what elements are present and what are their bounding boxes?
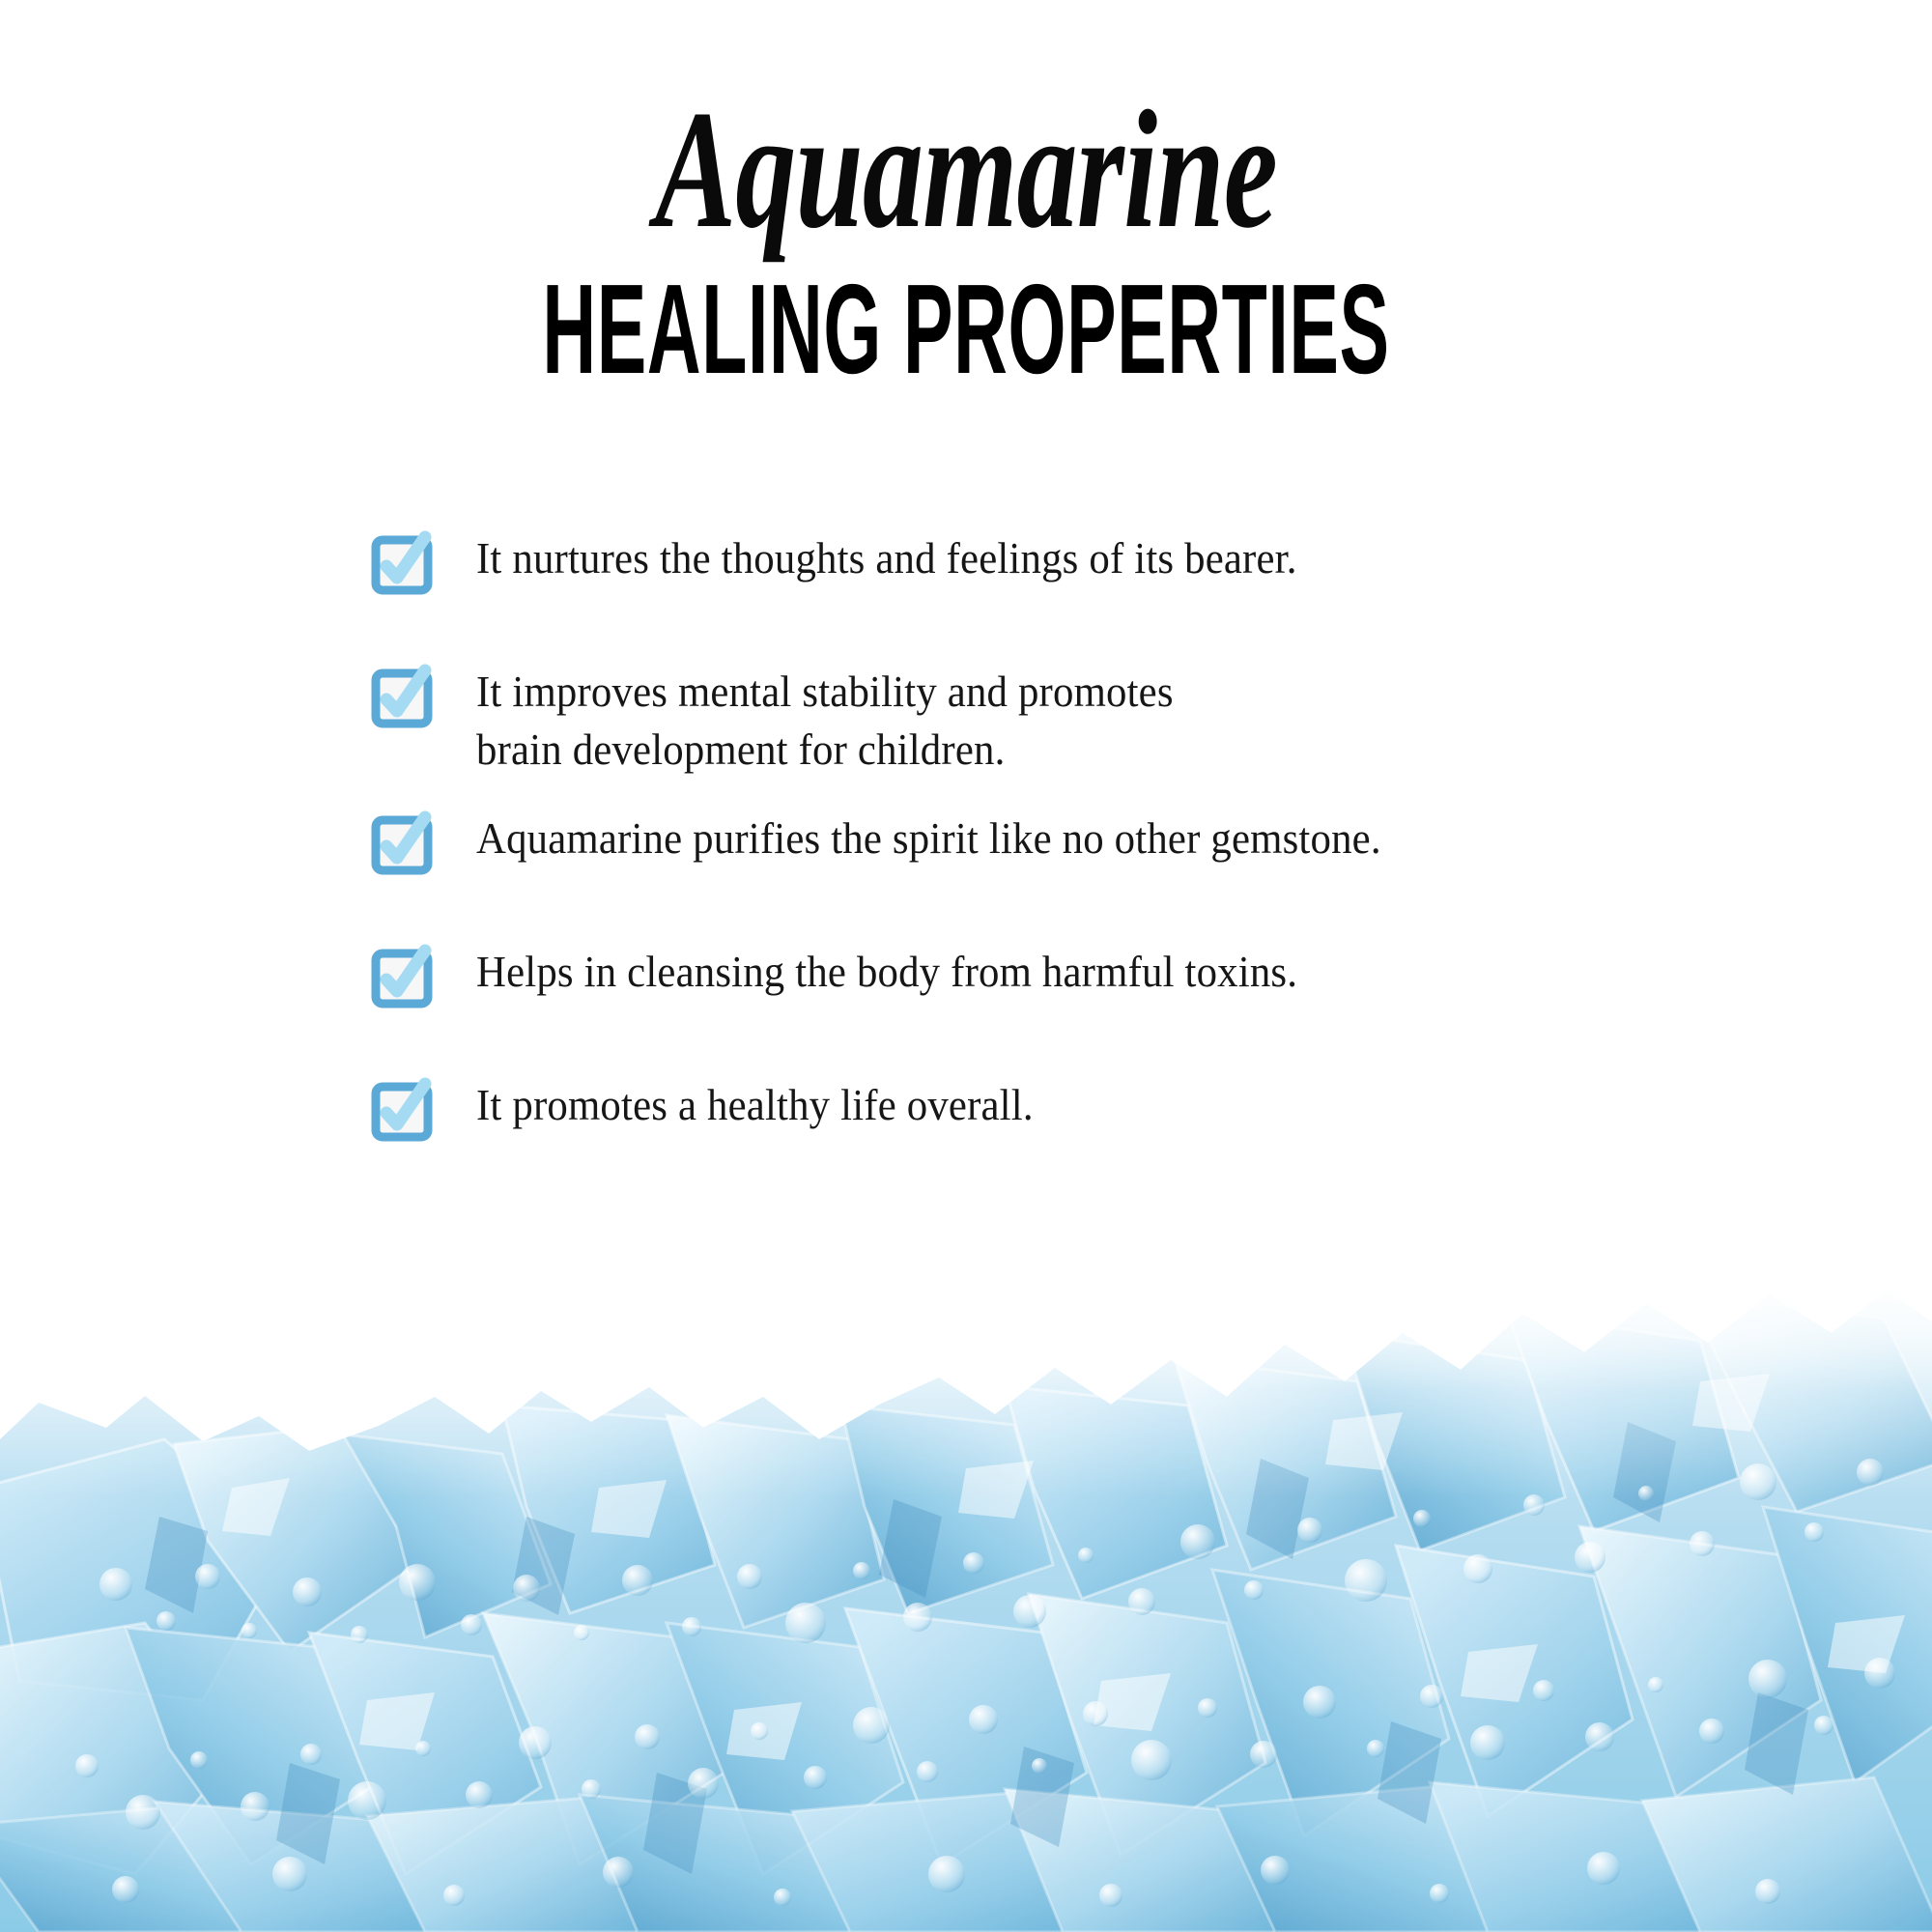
poster-canvas: Aquamarine HEALING PROPERTIES It nurture… (0, 0, 1932, 1932)
list-item-label: Helps in cleansing the body from harmful… (476, 943, 1297, 1001)
list-item-label: It nurtures the thoughts and feelings of… (476, 529, 1297, 587)
page-title: Aquamarine (270, 89, 1662, 249)
list-item-label: Aquamarine purifies the spirit like no o… (476, 810, 1381, 867)
checkbox-checked-icon[interactable] (373, 813, 433, 873)
list-item-label: It improves mental stability and promote… (476, 663, 1174, 779)
list-item: Helps in cleansing the body from harmful… (373, 943, 1880, 1007)
checkbox-checked-icon[interactable] (373, 1080, 433, 1140)
properties-list: It nurtures the thoughts and feelings of… (373, 529, 1880, 1140)
checkbox-checked-icon[interactable] (373, 947, 433, 1007)
checkbox-checked-icon[interactable] (373, 667, 433, 726)
list-item: Aquamarine purifies the spirit like no o… (373, 810, 1880, 873)
list-item: It promotes a healthy life overall. (373, 1076, 1880, 1140)
ice-cubes-photo (0, 1198, 1932, 1932)
page-subtitle: HEALING PROPERTIES (401, 270, 1531, 387)
list-item-label: It promotes a healthy life overall. (476, 1076, 1034, 1134)
list-item: It nurtures the thoughts and feelings of… (373, 529, 1880, 593)
checkbox-checked-icon[interactable] (373, 533, 433, 593)
poster-header: Aquamarine HEALING PROPERTIES (0, 0, 1932, 388)
list-item: It improves mental stability and promote… (373, 663, 1880, 779)
